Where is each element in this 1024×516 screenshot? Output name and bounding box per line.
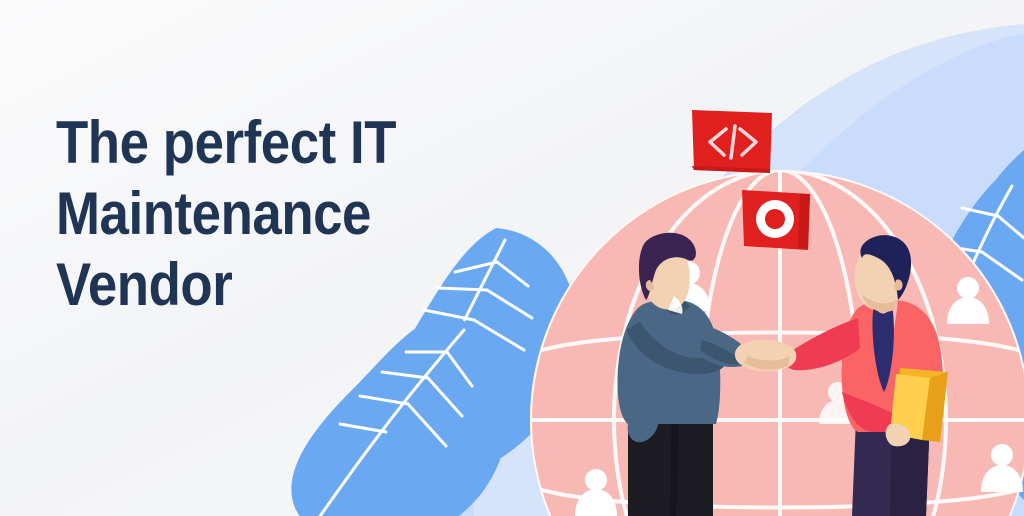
- banner-illustration: The perfect IT Maintenance Vendor: [0, 0, 1024, 516]
- card-ring: [742, 190, 810, 250]
- page-title: The perfect IT Maintenance Vendor: [56, 108, 426, 320]
- card-code: [692, 110, 772, 173]
- ring-icon: [756, 200, 794, 238]
